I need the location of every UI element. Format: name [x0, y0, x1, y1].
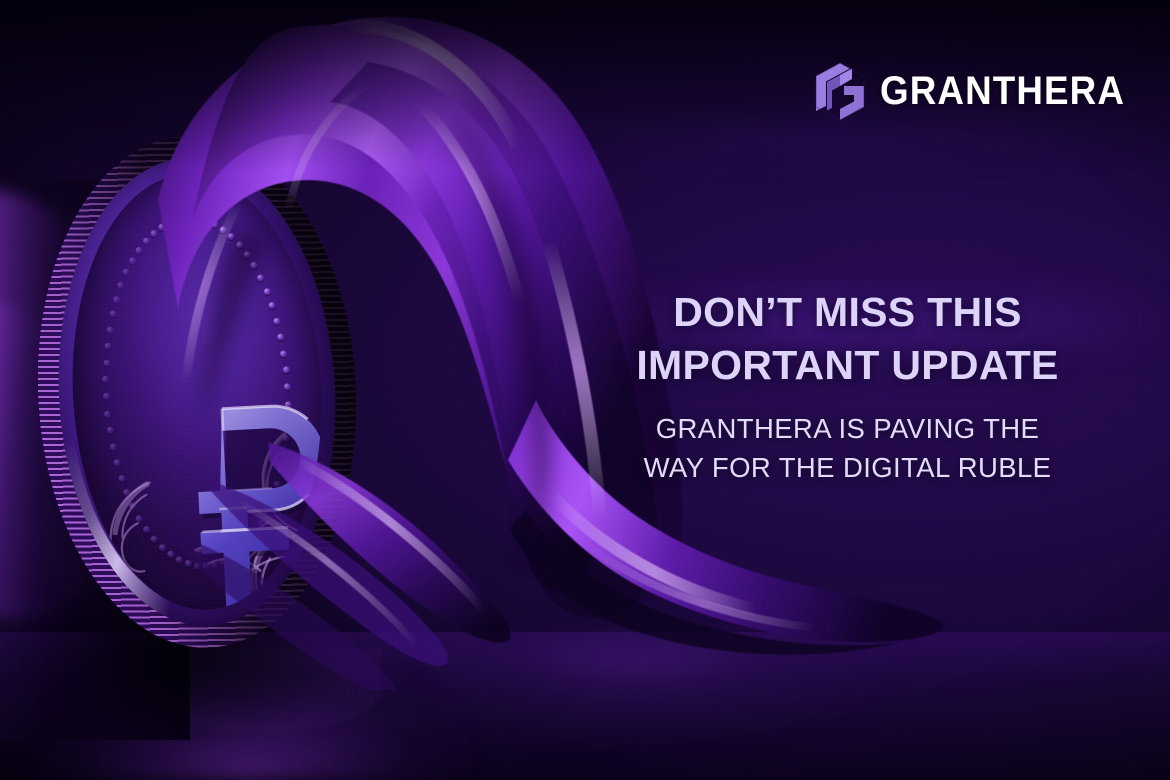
brand-wordmark: GRANTHERA [880, 71, 1125, 111]
headline-line-1: DON’T MISS THIS [673, 289, 1021, 335]
headline-line-2: IMPORTANT UPDATE [560, 339, 1135, 392]
brand-logo[interactable]: GRANTHERA [814, 62, 1146, 120]
headline: DON’T MISS THIS IMPORTANT UPDATE [560, 286, 1135, 393]
promo-copy: DON’T MISS THIS IMPORTANT UPDATE GRANTHE… [560, 286, 1135, 488]
promo-banner: GRANTHERA DON’T MISS THIS IMPORTANT UPDA… [0, 0, 1170, 780]
subheadline-line-2: WAY FOR THE DIGITAL RUBLE [560, 448, 1135, 488]
granthera-cube-g-icon [814, 62, 866, 120]
subheadline: GRANTHERA IS PAVING THE WAY FOR THE DIGI… [560, 409, 1135, 489]
subheadline-line-1: GRANTHERA IS PAVING THE [656, 413, 1040, 444]
